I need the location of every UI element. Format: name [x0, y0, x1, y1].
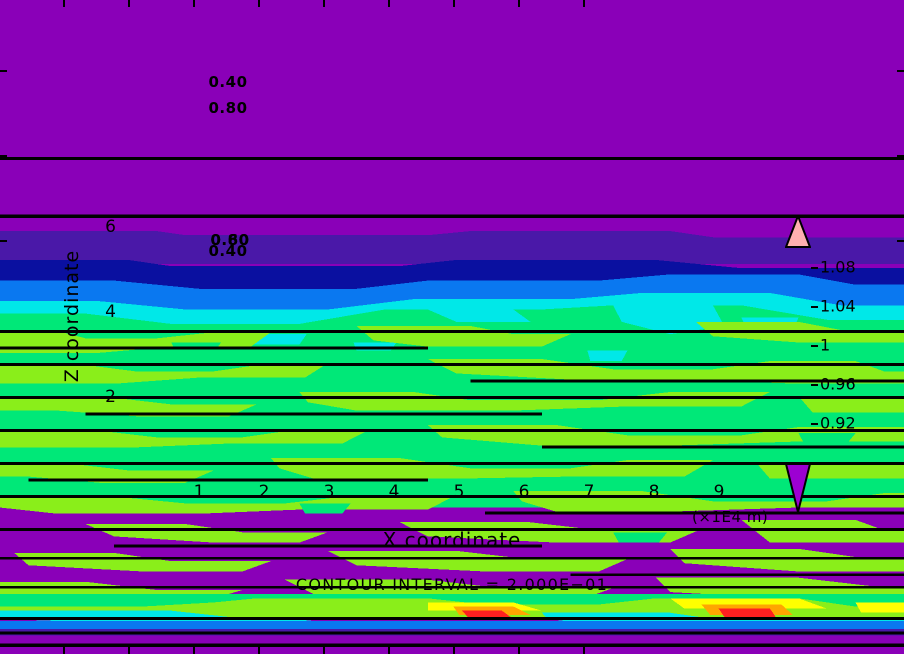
x-tick-mark-top: [388, 0, 390, 7]
x-tick-label: 5: [454, 482, 465, 502]
x-axis-title: X coordinate: [0, 528, 904, 552]
contour-label: 0.80: [208, 99, 247, 117]
contour-plot-area: 0.40 0.80 0.80 0.60 0.40: [0, 0, 634, 317]
x-tick-label: 3: [324, 482, 335, 502]
colorbar-tick: [811, 345, 818, 347]
x-tick-label: 4: [389, 482, 400, 502]
y-tick-label: 4: [105, 302, 116, 322]
x-tick-mark-top: [193, 0, 195, 7]
colorbar-tick-label: 0.96: [820, 375, 856, 394]
contour-label: 0.40: [208, 73, 247, 91]
x-tick-mark-top: [323, 0, 325, 7]
colorbar-tick-label: 1.08: [820, 258, 856, 277]
y-tick-label: 2: [105, 387, 116, 407]
y-axis-title: Z coordinate: [61, 250, 83, 382]
colorbar-under-cap: [785, 463, 811, 513]
y-tick-mark: [0, 70, 7, 72]
colorbar-tick-label: 1: [820, 336, 830, 355]
x-tick-label: 6: [519, 482, 530, 502]
x-tick-mark-top: [128, 0, 130, 7]
x-tick-label: 1: [194, 482, 205, 502]
x-tick-mark-top: [63, 0, 65, 7]
x-tick-mark-top: [518, 0, 520, 7]
x-tick-mark-top: [453, 0, 455, 7]
contour-label: 0.40: [208, 242, 247, 260]
y-tick-mark: [0, 155, 7, 157]
x-tick-label: 2: [259, 482, 270, 502]
x-tick-mark-top: [258, 0, 260, 7]
contour-field: [0, 0, 634, 317]
contour-interval-caption: CONTOUR INTERVAL = 2.000E−01: [0, 575, 904, 594]
colorbar-tick: [811, 306, 818, 308]
x-tick-label: 7: [584, 482, 595, 502]
y-tick-mark: [0, 240, 7, 242]
colorbar-tick-label: 0.92: [820, 414, 856, 433]
x-tick-label: 9: [714, 482, 725, 502]
colorbar-tick: [811, 267, 818, 269]
x-axis-unit-label: (×1E4 m): [692, 508, 768, 526]
colorbar-tick: [811, 423, 818, 425]
colorbar-tick-label: 1.04: [820, 297, 856, 316]
colorbar-tick: [811, 384, 818, 386]
y-tick-label: 6: [105, 217, 116, 237]
x-tick-mark-top: [583, 0, 585, 7]
x-tick-label: 8: [649, 482, 660, 502]
colorbar-over-cap: [785, 215, 811, 248]
